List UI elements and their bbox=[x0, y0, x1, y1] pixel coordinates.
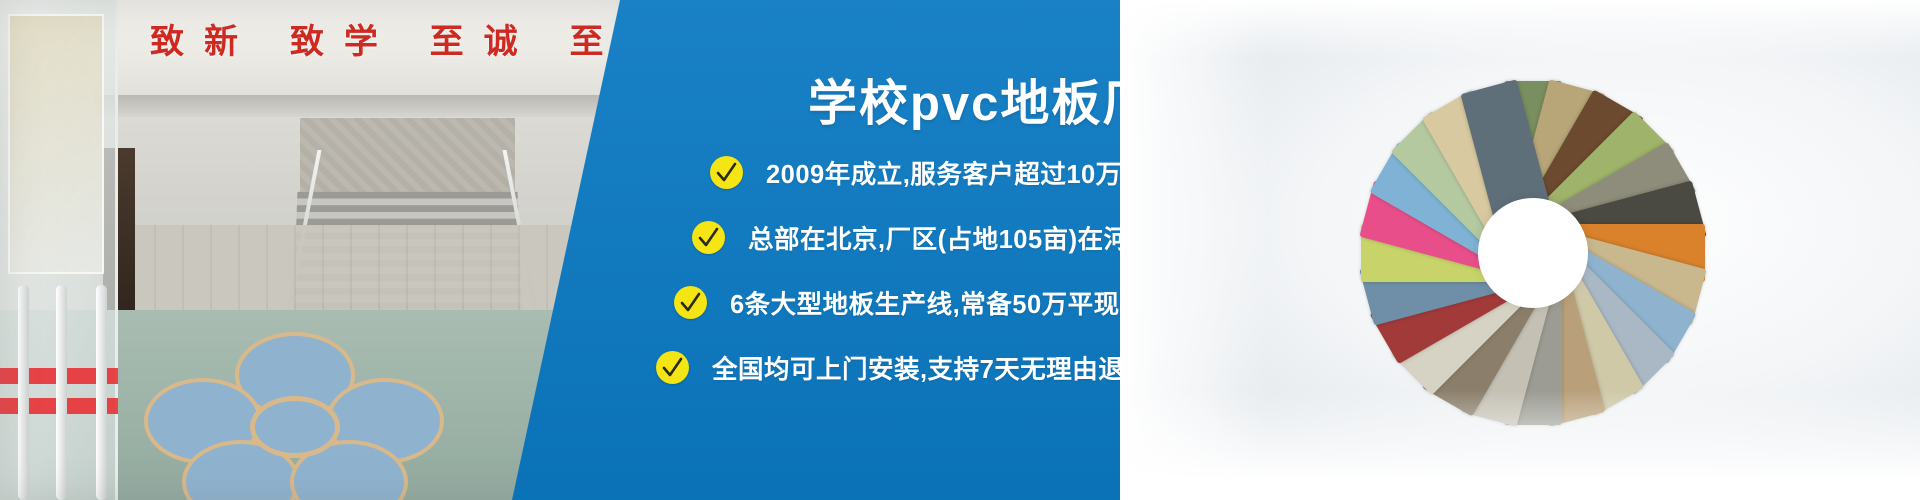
list-item-label: 2009年成立,服务客户超过10万家 bbox=[766, 154, 1148, 191]
list-item-label: 全国均可上门安装,支持7天无理由退换 bbox=[712, 349, 1150, 386]
check-circle-icon bbox=[656, 351, 689, 384]
color-sample-fan-photo bbox=[1120, 0, 1920, 500]
promo-banner: 致新 致学 至诚 至美 学校pvc地板厂家 bbox=[0, 0, 1920, 500]
photo-bottom-fade bbox=[1120, 390, 1920, 500]
check-circle-icon bbox=[710, 156, 743, 189]
list-item-label: 总部在北京,厂区(占地105亩)在河北 bbox=[748, 219, 1156, 256]
list-item-label: 6条大型地板生产线,常备50万平现货 bbox=[730, 284, 1146, 321]
photo-top-fade bbox=[1120, 0, 1920, 60]
fan-hub bbox=[1478, 198, 1588, 308]
check-circle-icon bbox=[692, 221, 725, 254]
check-circle-icon bbox=[674, 286, 707, 319]
